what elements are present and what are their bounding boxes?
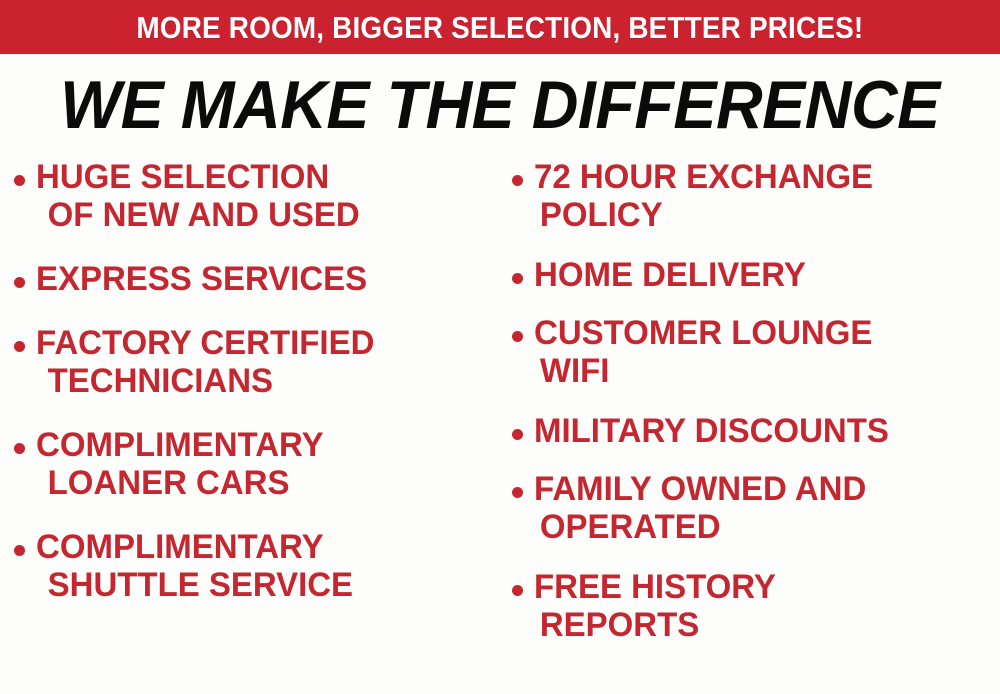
bullet-dot-icon [14, 277, 25, 288]
list-item-line2: POLICY [534, 196, 984, 234]
list-item-line2: REPORTS [534, 606, 984, 644]
list-item: 72 HOUR EXCHANGE POLICY [512, 158, 998, 234]
list-item: FACTORY CERTIFIED TECHNICIANS [14, 324, 494, 400]
list-item-line1: COMPLIMENTARY [36, 528, 324, 566]
bullet-dot-icon [14, 175, 25, 186]
bullet-dot-icon [14, 341, 25, 352]
list-item-line1: HOME DELIVERY [534, 256, 806, 294]
list-item-line2: OPERATED [534, 508, 984, 546]
list-item: COMPLIMENTARY SHUTTLE SERVICE [14, 528, 494, 604]
list-item-line1: MILITARY DISCOUNTS [534, 412, 889, 450]
list-item-text: MILITARY DISCOUNTS [534, 412, 984, 450]
list-item-line1: 72 HOUR EXCHANGE [534, 158, 873, 196]
list-item-text: COMPLIMENTARY LOANER CARS [36, 426, 480, 502]
list-item-text: FACTORY CERTIFIED TECHNICIANS [36, 324, 480, 400]
bullet-dot-icon [14, 545, 25, 556]
list-item: EXPRESS SERVICES [14, 260, 494, 298]
list-item-line1: FAMILY OWNED AND [534, 470, 866, 508]
list-item-line1: HUGE SELECTION [36, 158, 329, 196]
list-item-line2: LOANER CARS [36, 464, 480, 502]
list-item-line2: SHUTTLE SERVICE [36, 566, 480, 604]
banner-headline-text: MORE ROOM, BIGGER SELECTION, BETTER PRIC… [136, 12, 863, 43]
bullet-dot-icon [512, 175, 523, 186]
list-item-line1: COMPLIMENTARY [36, 426, 324, 464]
list-item-text: HUGE SELECTION OF NEW AND USED [36, 158, 480, 234]
list-item: FREE HISTORY REPORTS [512, 568, 998, 644]
bullet-dot-icon [512, 487, 523, 498]
benefits-columns: HUGE SELECTION OF NEW AND USED EXPRESS S… [0, 158, 1000, 694]
list-item: COMPLIMENTARY LOANER CARS [14, 426, 494, 502]
list-item: MILITARY DISCOUNTS [512, 412, 998, 450]
list-item-text: CUSTOMER LOUNGE WIFI [534, 314, 984, 390]
top-banner: MORE ROOM, BIGGER SELECTION, BETTER PRIC… [0, 0, 1000, 54]
bullet-dot-icon [512, 585, 523, 596]
bullet-dot-icon [512, 429, 523, 440]
list-item-line1: EXPRESS SERVICES [36, 260, 367, 298]
bullet-dot-icon [14, 443, 25, 454]
list-item-line2: TECHNICIANS [36, 362, 480, 400]
benefits-column-right: 72 HOUR EXCHANGE POLICY HOME DELIVERY CU… [500, 158, 1000, 666]
list-item: CUSTOMER LOUNGE WIFI [512, 314, 998, 390]
list-item: FAMILY OWNED AND OPERATED [512, 470, 998, 546]
list-item-line2: OF NEW AND USED [36, 196, 480, 234]
list-item-line1: CUSTOMER LOUNGE [534, 314, 872, 352]
bullet-dot-icon [512, 331, 523, 342]
list-item: HOME DELIVERY [512, 256, 998, 294]
headline-container: WE MAKE THE DIFFERENCE [0, 62, 1000, 148]
benefits-column-left: HUGE SELECTION OF NEW AND USED EXPRESS S… [0, 158, 500, 630]
list-item-text: 72 HOUR EXCHANGE POLICY [534, 158, 984, 234]
list-item-text: EXPRESS SERVICES [36, 260, 480, 298]
list-item-text: HOME DELIVERY [534, 256, 984, 294]
page-title: WE MAKE THE DIFFERENCE [60, 71, 940, 139]
bullet-dot-icon [512, 273, 523, 284]
list-item-text: FREE HISTORY REPORTS [534, 568, 984, 644]
list-item-line1: FACTORY CERTIFIED [36, 324, 374, 362]
promo-poster: MORE ROOM, BIGGER SELECTION, BETTER PRIC… [0, 0, 1000, 694]
list-item: HUGE SELECTION OF NEW AND USED [14, 158, 494, 234]
list-item-line2: WIFI [534, 352, 984, 390]
list-item-text: COMPLIMENTARY SHUTTLE SERVICE [36, 528, 480, 604]
list-item-text: FAMILY OWNED AND OPERATED [534, 470, 984, 546]
list-item-line1: FREE HISTORY [534, 568, 776, 606]
